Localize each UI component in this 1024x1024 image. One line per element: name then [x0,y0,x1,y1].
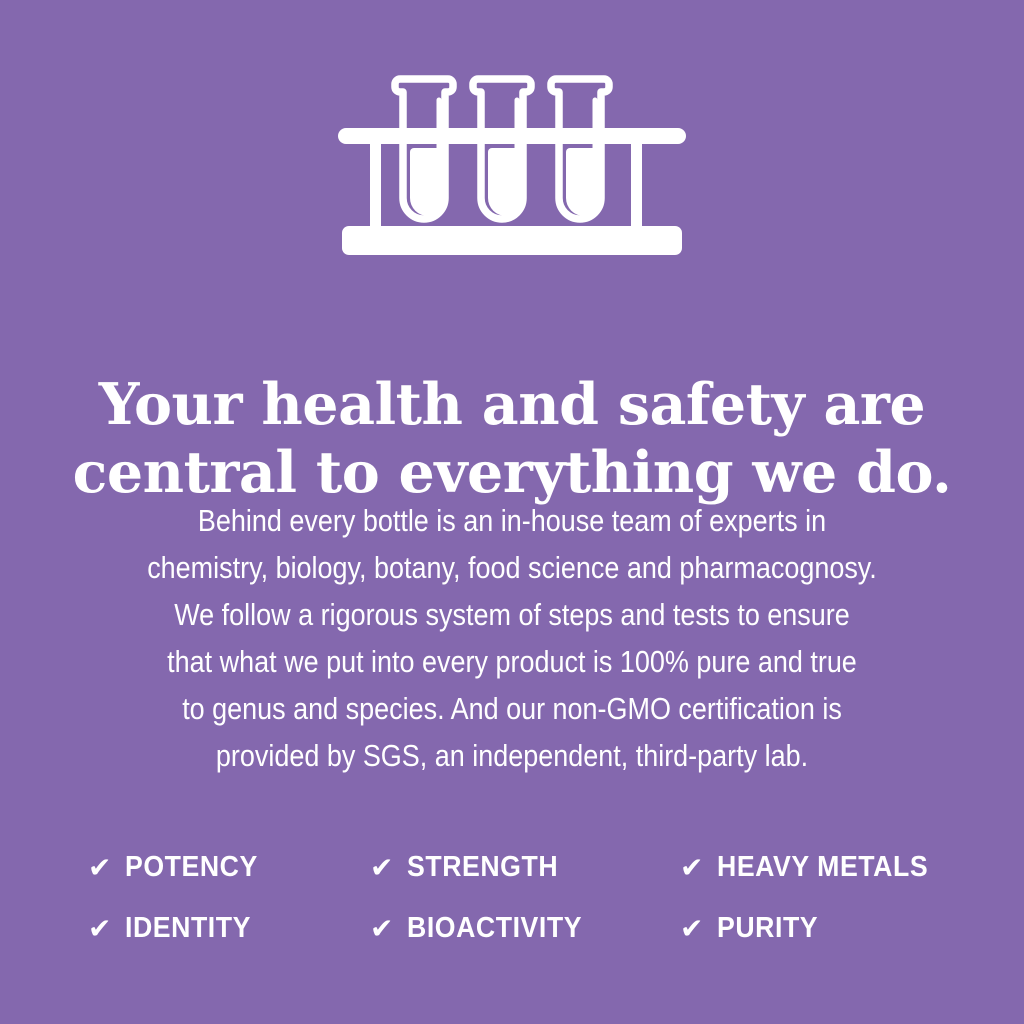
checklist-item-purity: ✔ PURITY [680,914,968,943]
checklist-item-heavy-metals: ✔ HEAVY METALS [680,853,968,882]
checklist-row: ✔ POTENCY ✔ STRENGTH ✔ HEAVY METALS [88,853,968,914]
check-icon: ✔ [88,915,111,943]
body-line: Behind every bottle is an in-house team … [127,497,896,544]
promo-card: Your health and safety are central to ev… [0,0,1024,1024]
body-paragraph: Behind every bottle is an in-house team … [0,497,1024,779]
checklist-item-label: STRENGTH [407,853,558,882]
check-icon: ✔ [680,915,703,943]
check-icon: ✔ [370,915,393,943]
checklist-item-label: IDENTITY [125,914,251,943]
checklist-item-identity: ✔ IDENTITY [88,914,370,943]
test-tube-rack-icon [336,62,688,258]
body-line: to genus and species. And our non-GMO ce… [127,685,896,732]
checklist-item-label: POTENCY [125,853,258,882]
checklist-item-label: PURITY [717,914,818,943]
test-checklist: ✔ POTENCY ✔ STRENGTH ✔ HEAVY METALS ✔ ID… [88,853,968,975]
body-line: provided by SGS, an independent, third-p… [127,732,896,779]
checklist-item-label: BIOACTIVITY [407,914,582,943]
check-icon: ✔ [370,854,393,882]
body-line: chemistry, biology, botany, food science… [127,544,896,591]
check-icon: ✔ [88,854,111,882]
headline: Your health and safety are central to ev… [0,371,1024,507]
body-line: that what we put into every product is 1… [127,638,896,685]
checklist-item-potency: ✔ POTENCY [88,853,370,882]
checklist-item-strength: ✔ STRENGTH [370,853,680,882]
icon-container [0,62,1024,272]
checklist-row: ✔ IDENTITY ✔ BIOACTIVITY ✔ PURITY [88,914,968,975]
checklist-item-bioactivity: ✔ BIOACTIVITY [370,914,680,943]
body-line: We follow a rigorous system of steps and… [127,591,896,638]
checklist-item-label: HEAVY METALS [717,853,928,882]
headline-line-1: Your health and safety are [60,371,964,439]
check-icon: ✔ [680,854,703,882]
